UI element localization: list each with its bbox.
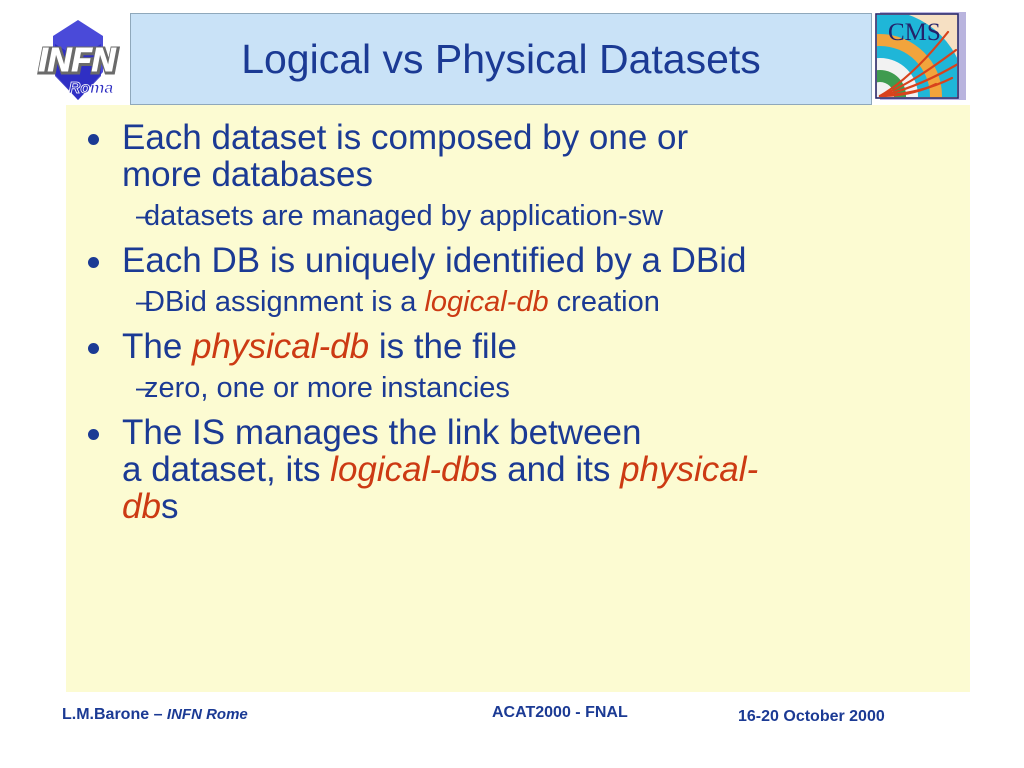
svg-text:INFN: INFN xyxy=(39,41,117,78)
bullet-item: The IS manages the link betweena dataset… xyxy=(66,414,970,525)
slide-footer: L.M.Barone – INFN Rome ACAT2000 - FNAL 1… xyxy=(0,700,1024,730)
bullet-text: Each DB is uniquely identified by a DBid xyxy=(122,242,970,279)
slide-title-bar: Logical vs Physical Datasets xyxy=(130,13,872,105)
plain-text: The IS manages the link between xyxy=(122,413,641,452)
bullet-line: Each DB is uniquely identified by a DBid xyxy=(122,242,970,279)
bullet-text: The IS manages the link betweena dataset… xyxy=(122,414,970,525)
bullet-text: zero, one or more instancies xyxy=(144,373,510,404)
bullet-text: DBid assignment is a logical-db creation xyxy=(144,287,660,318)
bullet-marker-dash-icon: – xyxy=(136,373,152,404)
emphasis-term: logical-db xyxy=(424,286,548,318)
plain-text: Each dataset is composed by one or xyxy=(122,118,688,157)
footer-institute: INFN Rome xyxy=(167,706,248,723)
bullet-item: Each DB is uniquely identified by a DBid xyxy=(66,242,970,279)
page-title: Logical vs Physical Datasets xyxy=(241,39,761,80)
bullet-item: Each dataset is composed by one ormore d… xyxy=(66,119,970,193)
plain-text: s xyxy=(161,487,179,526)
infn-roma-logo-icon: INFN INFN Roma xyxy=(17,14,139,106)
bullet-marker-dash-icon: – xyxy=(136,287,152,318)
bullet-marker-dash-icon: – xyxy=(136,201,152,232)
bullet-line: datasets are managed by application-sw xyxy=(144,201,663,232)
bullet-item: The physical-db is the file xyxy=(66,328,970,365)
sub-bullet-item: –zero, one or more instancies xyxy=(66,373,970,404)
footer-author-separator: – xyxy=(149,706,167,723)
emphasis-term: physical- xyxy=(620,450,758,489)
bullet-marker-dot-icon xyxy=(88,134,99,145)
plain-text: datasets are managed by application-sw xyxy=(144,200,663,232)
plain-text: s and its xyxy=(480,450,620,489)
plain-text: creation xyxy=(549,286,660,318)
plain-text: DBid assignment is a xyxy=(144,286,424,318)
plain-text: The xyxy=(122,327,192,366)
plain-text: zero, one or more instancies xyxy=(144,372,510,404)
svg-text:CMS: CMS xyxy=(888,19,941,46)
bullet-line: The IS manages the link between xyxy=(122,414,970,451)
bullet-text: The physical-db is the file xyxy=(122,328,970,365)
bullet-text: datasets are managed by application-sw xyxy=(144,201,663,232)
bullet-line: Each dataset is composed by one or xyxy=(122,119,970,156)
cms-logo-icon: CMS xyxy=(874,8,968,104)
plain-text: a dataset, its xyxy=(122,450,330,489)
plain-text: Each DB is uniquely identified by a DBid xyxy=(122,241,747,280)
slide-canvas: INFN INFN Roma Logical vs Physical Datas… xyxy=(0,0,1024,768)
slide-body: Each dataset is composed by one ormore d… xyxy=(66,105,970,692)
bullet-line: dbs xyxy=(122,488,970,525)
emphasis-term: physical-db xyxy=(192,327,369,366)
footer-date: 16-20 October 2000 xyxy=(738,708,885,726)
footer-author: L.M.Barone – INFN Rome xyxy=(62,706,248,724)
sub-bullet-item: –datasets are managed by application-sw xyxy=(66,201,970,232)
sub-bullet-item: –DBid assignment is a logical-db creatio… xyxy=(66,287,970,318)
bullet-marker-dot-icon xyxy=(88,429,99,440)
svg-text:Roma: Roma xyxy=(69,80,114,97)
plain-text: more databases xyxy=(122,155,373,194)
emphasis-term: db xyxy=(122,487,161,526)
bullet-text: Each dataset is composed by one ormore d… xyxy=(122,119,970,193)
bullet-marker-dot-icon xyxy=(88,257,99,268)
bullet-line: zero, one or more instancies xyxy=(144,373,510,404)
bullet-line: The physical-db is the file xyxy=(122,328,970,365)
footer-author-name: L.M.Barone xyxy=(62,706,149,723)
bullet-line: more databases xyxy=(122,156,970,193)
plain-text: is the file xyxy=(369,327,517,366)
bullet-line: DBid assignment is a logical-db creation xyxy=(144,287,660,318)
bullet-list: Each dataset is composed by one ormore d… xyxy=(66,105,970,525)
footer-event: ACAT2000 - FNAL xyxy=(492,704,628,722)
bullet-line: a dataset, its logical-dbs and its physi… xyxy=(122,451,970,488)
bullet-marker-dot-icon xyxy=(88,343,99,354)
emphasis-term: logical-db xyxy=(330,450,480,489)
